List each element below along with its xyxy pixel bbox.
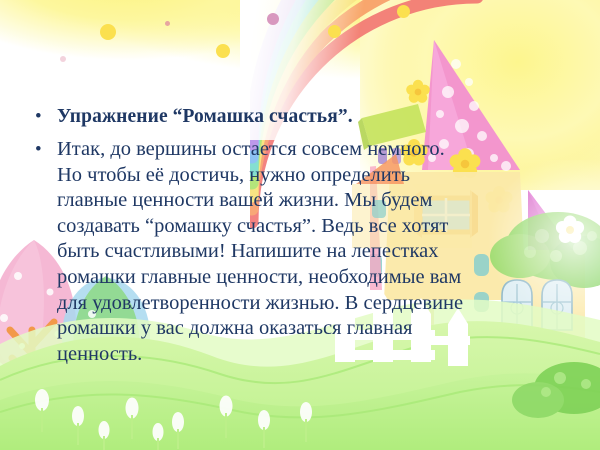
confetti-dot — [216, 44, 230, 58]
bullet-exercise-body: • Итак, до вершины остается совсем немно… — [30, 137, 550, 367]
bullet-text: Итак, до вершины остается совсем немного… — [57, 137, 463, 367]
bullet-exercise-title: • Упражнение “Ромашка счастья”. — [30, 104, 550, 130]
slide-text-body: • Упражнение “Ромашка счастья”. • Итак, … — [30, 104, 550, 367]
confetti-dot — [397, 5, 410, 18]
text-line: ромашки у вас должна оказаться главная — [57, 316, 463, 342]
bullet-marker: • — [30, 104, 57, 130]
text-line: создавать “ромашку счастья”. Ведь все хо… — [57, 214, 463, 240]
confetti-dot — [165, 21, 170, 26]
text-line: Итак, до вершины остается совсем немного… — [57, 137, 463, 163]
text-line: быть счастливыми! Напишите на лепестках — [57, 239, 463, 265]
confetti-dot — [267, 13, 279, 25]
text-line: Но чтобы её достичь, нужно определить — [57, 163, 463, 189]
bullet-text: Упражнение “Ромашка счастья”. — [57, 104, 353, 130]
slide-canvas: • Упражнение “Ромашка счастья”. • Итак, … — [0, 0, 600, 450]
text-line: для удовлетворенности жизнью. В сердцеви… — [57, 291, 463, 317]
confetti-dot — [100, 24, 116, 40]
text-line: ценность. — [57, 342, 463, 368]
text-line: главные ценности вашей жизни. Мы будем — [57, 188, 463, 214]
text-line: Упражнение “Ромашка счастья”. — [57, 104, 353, 130]
bullet-marker: • — [30, 137, 57, 162]
text-line: ромашки главные ценности, необходимые ва… — [57, 265, 463, 291]
confetti-dot — [328, 25, 341, 38]
confetti-dot — [60, 56, 66, 62]
